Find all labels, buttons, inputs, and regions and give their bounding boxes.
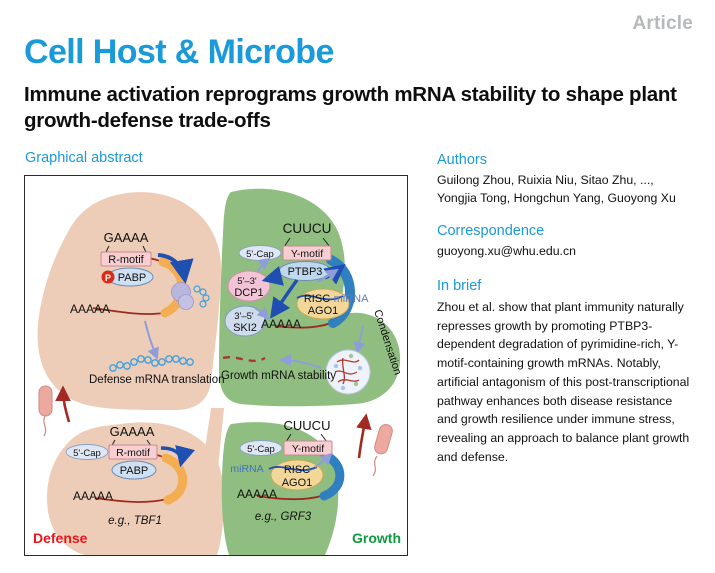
graphical-abstract-label: Graphical abstract: [25, 150, 143, 166]
page-title: Immune activation reprograms growth mRNA…: [24, 82, 694, 134]
polya-label: AAAAA: [70, 302, 110, 316]
authors-list: Guilong Zhou, Ruixia Niu, Sitao Zhu, ...…: [437, 172, 695, 207]
grf3-risc-label: RISC: [284, 464, 310, 476]
cap-label: 5'-Cap: [246, 249, 274, 260]
correspondence-heading: Correspondence: [437, 223, 695, 239]
journal-title: Cell Host & Microbe: [24, 35, 334, 69]
authors-heading: Authors: [437, 152, 695, 168]
dcp1-label: DCP1: [234, 287, 263, 299]
tbf1-pabp-label: PABP: [120, 465, 149, 477]
article-type-tag: Article: [632, 13, 693, 35]
tbf1-example-label: e.g., TBF1: [108, 515, 162, 527]
graphical-abstract-figure: GAAAA R-motif PABP P AAAAA: [24, 175, 408, 556]
risc-label: RISC: [304, 293, 330, 305]
phospho-label: P: [105, 273, 111, 283]
growth-corner-label: Growth: [352, 530, 401, 546]
ski2-label: SKI2: [233, 322, 257, 334]
motif-sequence-label: GAAAA: [104, 230, 149, 245]
ski2-direction-label: 3'–5': [234, 311, 254, 322]
flagellum-right: [373, 456, 377, 476]
growth-stability-caption: Growth mRNA stability: [221, 370, 336, 382]
y-motif-label: Y-motif: [291, 248, 323, 260]
grf3-polya-label: AAAAA: [237, 487, 277, 501]
correspondence-email[interactable]: guoyong.xu@whu.edu.cn: [437, 243, 695, 261]
grf3-y-motif-label: Y-motif: [292, 443, 324, 455]
immune-induction-arrow-right: [359, 416, 366, 458]
growth-motif-sequence-label: CUUCU: [283, 221, 332, 236]
mirna-label: miRNA: [334, 293, 369, 305]
in-brief-heading: In brief: [437, 278, 695, 294]
article-page: Article Cell Host & Microbe Immune activ…: [0, 0, 715, 573]
pabp-label: PABP: [118, 272, 147, 284]
defense-translation-caption: Defense mRNA translation: [89, 374, 225, 386]
grf3-motif-sequence-label: CUUCU: [284, 418, 331, 433]
tbf1-polya-label: AAAAA: [73, 489, 113, 503]
flagellum-left: [44, 416, 46, 436]
bacterium-left: [39, 386, 52, 436]
r-motif-label: R-motif: [108, 254, 144, 266]
growth-polya-label: AAAAA: [261, 317, 301, 331]
tbf1-cap-label: 5'-Cap: [73, 448, 101, 459]
bacterium-right: [373, 423, 394, 476]
grf3-ago1-label: AGO1: [282, 477, 313, 489]
tbf1-motif-sequence-label: GAAAA: [110, 424, 155, 439]
clover-diagram: GAAAA R-motif PABP P AAAAA: [25, 176, 407, 555]
article-metadata-column: Authors Guilong Zhou, Ruixia Niu, Sitao …: [437, 152, 695, 466]
ptbp3-label: PTBP3: [288, 266, 323, 278]
grf3-example-label: e.g., GRF3: [255, 511, 312, 523]
tbf1-r-motif-label: R-motif: [116, 447, 150, 459]
dcp1-direction-label: 5'–3': [237, 276, 257, 287]
grf3-cap-label: 5'-Cap: [247, 444, 275, 455]
ago1-label: AGO1: [308, 305, 339, 317]
in-brief-text: Zhou et al. show that plant immunity nat…: [437, 298, 695, 466]
grf3-mirna-label: miRNA: [230, 463, 263, 475]
defense-corner-label: Defense: [33, 530, 87, 546]
